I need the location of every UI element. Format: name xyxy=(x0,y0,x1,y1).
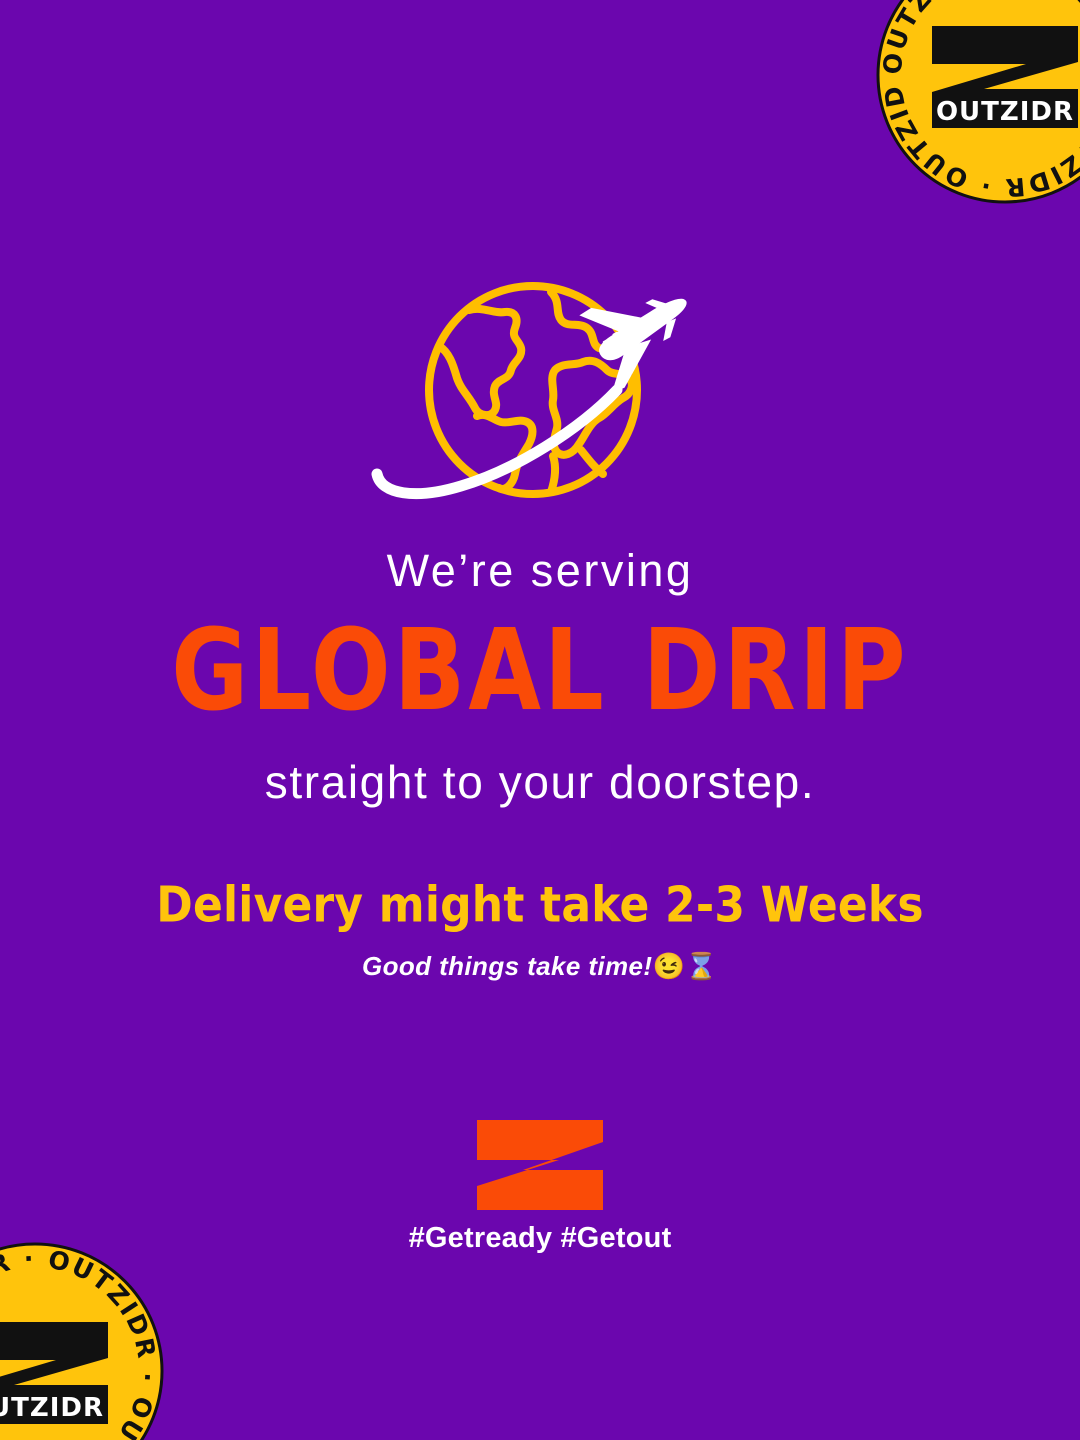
wink-hourglass-emoji: 😉⌛ xyxy=(652,951,718,981)
badge-circle-icon: OUTZIDR · OUTZIDR · OUTZIDR · OUTZIDR · … xyxy=(874,0,1080,206)
poster-canvas: OUTZIDR · OUTZIDR · OUTZIDR · OUTZIDR · … xyxy=(0,0,1080,1440)
hero-copy-block: We’re serving GLOBAL DRIP straight to yo… xyxy=(0,548,1080,979)
eyebrow-text: We’re serving xyxy=(0,548,1080,593)
outzidr-z-logo xyxy=(477,1120,603,1210)
reassurance-line: Good things take time!😉⌛ xyxy=(0,953,1080,979)
globe-airplane-graphic xyxy=(365,278,715,508)
globe-airplane-icon xyxy=(365,278,715,508)
subheadline-text: straight to your doorstep. xyxy=(0,759,1080,805)
footer-brand-block: #Getready #Getout xyxy=(0,1120,1080,1255)
svg-text:OUTZIDR: OUTZIDR xyxy=(936,97,1074,127)
hashtags-text: #Getready #Getout xyxy=(0,1222,1080,1255)
outzidr-badge-bottom-left: OUTZIDR · OUTZIDR · OUTZIDR · OUTZIDR · … xyxy=(0,1240,166,1440)
svg-text:OUTZIDR: OUTZIDR xyxy=(0,1393,104,1423)
outzidr-badge-top-right: OUTZIDR · OUTZIDR · OUTZIDR · OUTZIDR · … xyxy=(874,0,1080,206)
badge-circle-icon: OUTZIDR · OUTZIDR · OUTZIDR · OUTZIDR · … xyxy=(0,1240,166,1440)
page-title: GLOBAL DRIP xyxy=(0,615,1080,727)
delivery-notice: Delivery might take 2-3 Weeks xyxy=(0,881,1080,930)
reassurance-text: Good things take time! xyxy=(362,951,652,981)
